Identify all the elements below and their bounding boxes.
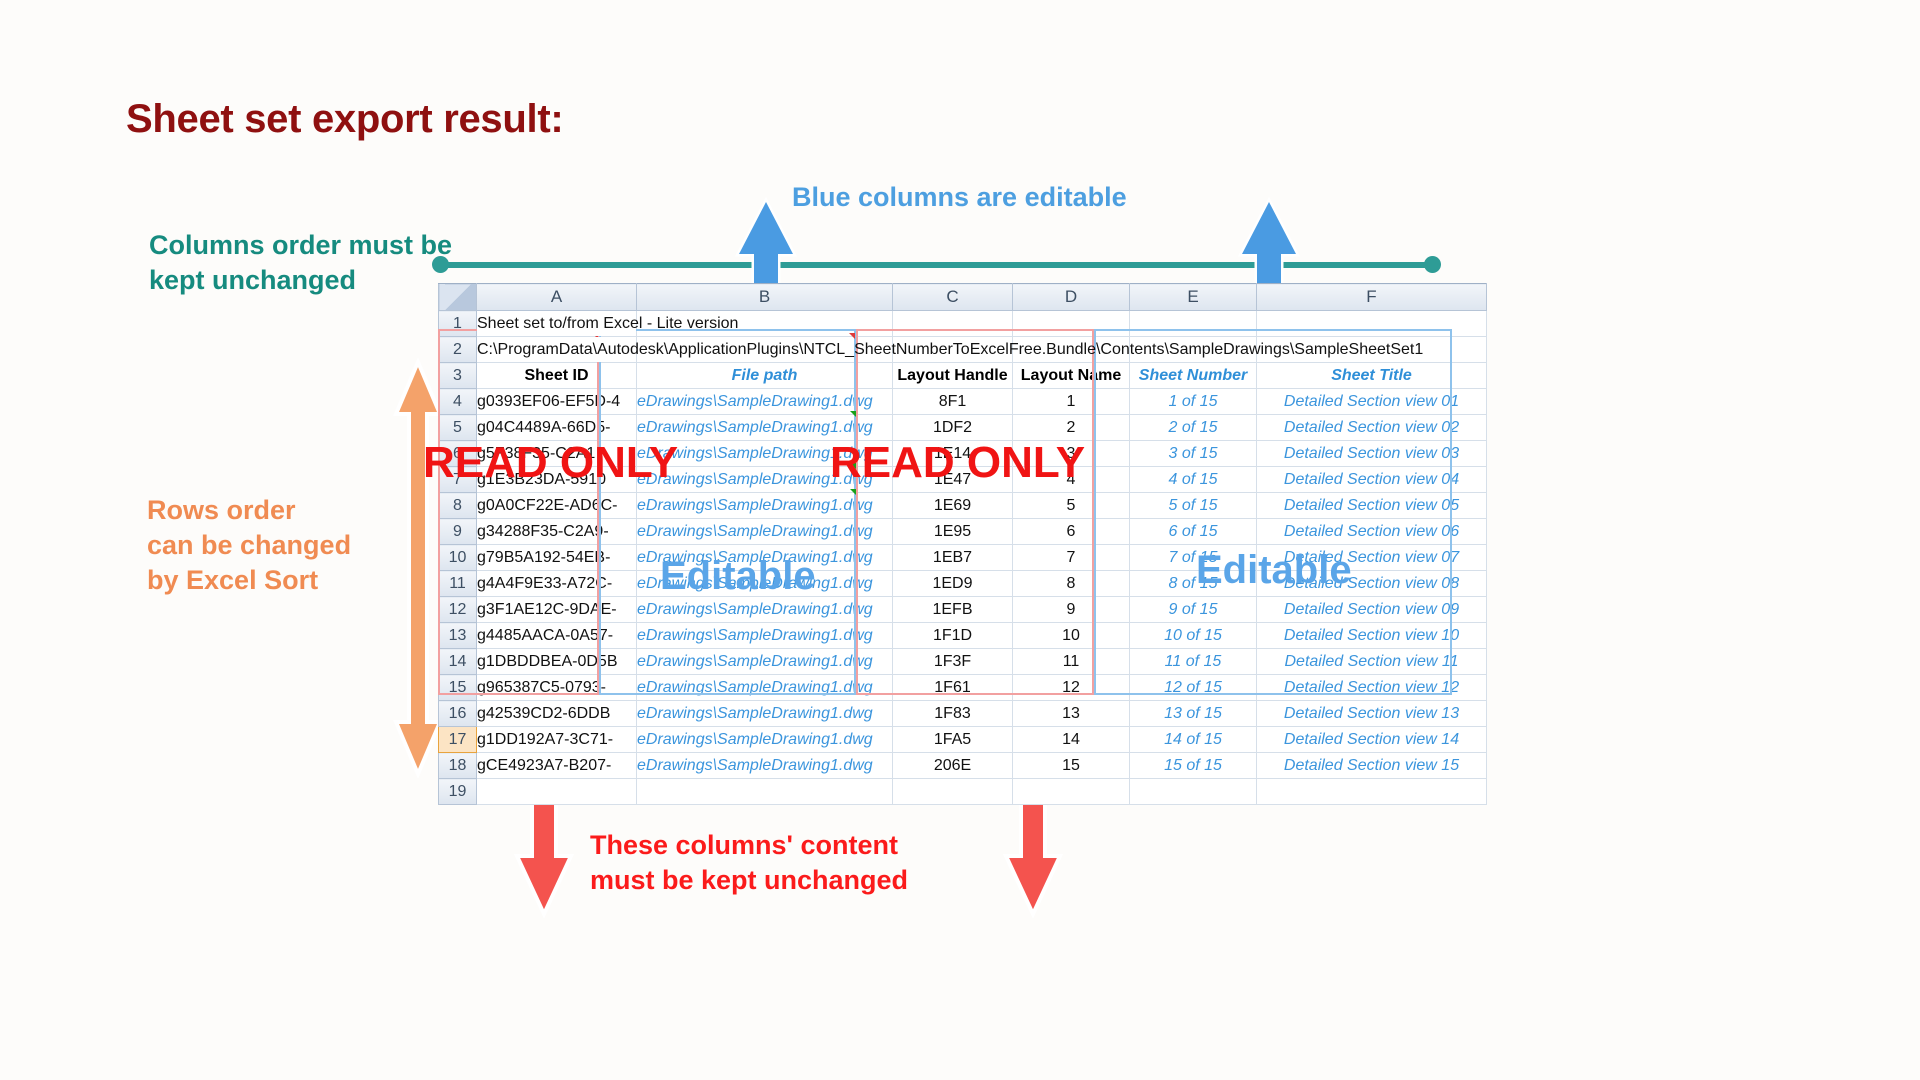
- cell-f19[interactable]: [1257, 779, 1487, 805]
- cell-file_path-8[interactable]: eDrawings\SampleDrawing1.dwg: [637, 493, 893, 519]
- cell-sheet_number-5[interactable]: 2 of 15: [1130, 415, 1257, 441]
- cell-layout_name-14[interactable]: 11: [1013, 649, 1130, 675]
- cell-sheet_id-4[interactable]: g0393EF06-EF5D-4: [477, 389, 637, 415]
- cell-sheet_number-4[interactable]: 1 of 15: [1130, 389, 1257, 415]
- row-header-18[interactable]: 18: [439, 753, 477, 779]
- header-file-path[interactable]: File path: [637, 363, 893, 389]
- column-order-indicator-dot-left: [432, 256, 449, 273]
- row-header-9[interactable]: 9: [439, 519, 477, 545]
- row-header-12[interactable]: 12: [439, 597, 477, 623]
- cell-sheet_number-15[interactable]: 12 of 15: [1130, 675, 1257, 701]
- row-header-15[interactable]: 15: [439, 675, 477, 701]
- cell-layout_name-15[interactable]: 12: [1013, 675, 1130, 701]
- cell-sheet_title-16[interactable]: Detailed Section view 13: [1257, 701, 1487, 727]
- cell-layout_handle-14[interactable]: 1F3F: [893, 649, 1013, 675]
- cell-sheet_title-8[interactable]: Detailed Section view 05: [1257, 493, 1487, 519]
- column-header-f[interactable]: F: [1257, 284, 1487, 311]
- row-header-5[interactable]: 5: [439, 415, 477, 441]
- cell-sheet_id-12[interactable]: g3F1AE12C-9DAE-: [477, 597, 637, 623]
- cell-layout_name-6[interactable]: 3: [1013, 441, 1130, 467]
- cell-layout_handle-8[interactable]: 1E69: [893, 493, 1013, 519]
- cell-sheet_id-11[interactable]: g4A4F9E33-A72C-: [477, 571, 637, 597]
- cell-layout_handle-15[interactable]: 1F61: [893, 675, 1013, 701]
- header-sheet-id[interactable]: Sheet ID: [477, 363, 637, 389]
- cell-file_path-10[interactable]: eDrawings\SampleDrawing1.dwg: [637, 545, 893, 571]
- header-layout-handle[interactable]: Layout Handle: [893, 363, 1013, 389]
- cell-a1[interactable]: Sheet set to/from Excel - Lite version: [477, 311, 637, 337]
- cell-layout_handle-9[interactable]: 1E95: [893, 519, 1013, 545]
- annotation-blue-columns-editable: Blue columns are editable: [792, 180, 1127, 215]
- table-row[interactable]: 7g1E3B23DA-5910eDrawings\SampleDrawing1.…: [439, 467, 1487, 493]
- cell-sheet_number-12[interactable]: 9 of 15: [1130, 597, 1257, 623]
- cell-file_path-16[interactable]: eDrawings\SampleDrawing1.dwg: [637, 701, 893, 727]
- table-header-row[interactable]: 3 Sheet ID File path Layout Handle Layou…: [439, 363, 1487, 389]
- cell-layout_handle-7[interactable]: 1E47: [893, 467, 1013, 493]
- comment-marker-green-icon: [850, 411, 856, 417]
- cell-sheet_id-5[interactable]: g04C4489A-66D5-: [477, 415, 637, 441]
- header-layout-name[interactable]: Layout Name: [1013, 363, 1130, 389]
- column-header-a[interactable]: A: [477, 284, 637, 311]
- table-row[interactable]: 2 C:\ProgramData\Autodesk\ApplicationPlu…: [439, 337, 1487, 363]
- cell-sheet_id-8[interactable]: g0A0CF22E-AD6C-: [477, 493, 637, 519]
- table-row[interactable]: 16g42539CD2-6DDBeDrawings\SampleDrawing1…: [439, 701, 1487, 727]
- table-row[interactable]: 18gCE4923A7-B207-eDrawings\SampleDrawing…: [439, 753, 1487, 779]
- cell-sheet_number-14[interactable]: 11 of 15: [1130, 649, 1257, 675]
- cell-sheet_number-17[interactable]: 14 of 15: [1130, 727, 1257, 753]
- table-row[interactable]: 5g04C4489A-66D5-eDrawings\SampleDrawing1…: [439, 415, 1487, 441]
- cell-sheet_title-15[interactable]: Detailed Section view 12: [1257, 675, 1487, 701]
- row-header-13[interactable]: 13: [439, 623, 477, 649]
- comment-marker-icon: [849, 333, 855, 339]
- table-row[interactable]: 19: [439, 779, 1487, 805]
- cell-layout_handle-5[interactable]: 1DF2: [893, 415, 1013, 441]
- cell-file_path-13[interactable]: eDrawings\SampleDrawing1.dwg: [637, 623, 893, 649]
- cell-sheet_number-9[interactable]: 6 of 15: [1130, 519, 1257, 545]
- cell-layout_handle-17[interactable]: 1FA5: [893, 727, 1013, 753]
- table-row[interactable]: 10g79B5A192-54EB-eDrawings\SampleDrawing…: [439, 545, 1487, 571]
- annotation-columns-content-unchanged: These columns' content must be kept unch…: [590, 828, 908, 898]
- table-row[interactable]: 17g1DD192A7-3C71-eDrawings\SampleDrawing…: [439, 727, 1487, 753]
- cell-layout_handle-18[interactable]: 206E: [893, 753, 1013, 779]
- cell-file_path-14[interactable]: eDrawings\SampleDrawing1.dwg: [637, 649, 893, 675]
- table-row[interactable]: 1 Sheet set to/from Excel - Lite version: [439, 311, 1487, 337]
- cell-sheet_id-17[interactable]: g1DD192A7-3C71-: [477, 727, 637, 753]
- cell-d19[interactable]: [1013, 779, 1130, 805]
- row-header-16[interactable]: 16: [439, 701, 477, 727]
- row-header-19[interactable]: 19: [439, 779, 477, 805]
- cell-sheet_title-12[interactable]: Detailed Section view 09: [1257, 597, 1487, 623]
- cell-sheet_title-6[interactable]: Detailed Section view 03: [1257, 441, 1487, 467]
- annotation-rows-order: Rows order can be changed by Excel Sort: [147, 493, 351, 598]
- cell-sheet_number-13[interactable]: 10 of 15: [1130, 623, 1257, 649]
- cell-sheet_title-5[interactable]: Detailed Section view 02: [1257, 415, 1487, 441]
- column-order-indicator-dot-right: [1424, 256, 1441, 273]
- cell-file_path-9[interactable]: eDrawings\SampleDrawing1.dwg: [637, 519, 893, 545]
- cell-sheet_title-18[interactable]: Detailed Section view 15: [1257, 753, 1487, 779]
- cell-sheet_title-10[interactable]: Detailed Section view 07: [1257, 545, 1487, 571]
- column-header-d[interactable]: D: [1013, 284, 1130, 311]
- cell-sheet_title-11[interactable]: Detailed Section view 08: [1257, 571, 1487, 597]
- cell-layout_name-18[interactable]: 15: [1013, 753, 1130, 779]
- cell-sheet_title-17[interactable]: Detailed Section view 14: [1257, 727, 1487, 753]
- cell-sheet_number-6[interactable]: 3 of 15: [1130, 441, 1257, 467]
- cell-sheet_id-16[interactable]: g42539CD2-6DDB: [477, 701, 637, 727]
- table-row[interactable]: 9g34288F35-C2A9-eDrawings\SampleDrawing1…: [439, 519, 1487, 545]
- cell-sheet_id-7[interactable]: g1E3B23DA-5910: [477, 467, 637, 493]
- row-header-11[interactable]: 11: [439, 571, 477, 597]
- cell-file_path-18[interactable]: eDrawings\SampleDrawing1.dwg: [637, 753, 893, 779]
- cell-sheet_id-9[interactable]: g34288F35-C2A9-: [477, 519, 637, 545]
- cell-layout_handle-10[interactable]: 1EB7: [893, 545, 1013, 571]
- cell-layout_name-7[interactable]: 4: [1013, 467, 1130, 493]
- cell-file_path-17[interactable]: eDrawings\SampleDrawing1.dwg: [637, 727, 893, 753]
- cell-sheet_number-8[interactable]: 5 of 15: [1130, 493, 1257, 519]
- table-row[interactable]: 11g4A4F9E33-A72C-eDrawings\SampleDrawing…: [439, 571, 1487, 597]
- column-header-c[interactable]: C: [893, 284, 1013, 311]
- row-header-8[interactable]: 8: [439, 493, 477, 519]
- cell-layout_name-11[interactable]: 8: [1013, 571, 1130, 597]
- cell-layout_name-8[interactable]: 5: [1013, 493, 1130, 519]
- row-header-14[interactable]: 14: [439, 649, 477, 675]
- cell-a2[interactable]: C:\ProgramData\Autodesk\ApplicationPlugi…: [477, 337, 637, 363]
- cell-file_path-5[interactable]: eDrawings\SampleDrawing1.dwg: [637, 415, 893, 441]
- cell-sheet_number-11[interactable]: 8 of 15: [1130, 571, 1257, 597]
- cell-sheet_title-4[interactable]: Detailed Section view 01: [1257, 389, 1487, 415]
- orange-double-arrow-rows: [392, 358, 444, 778]
- column-header-b[interactable]: B: [637, 284, 893, 311]
- select-all-corner[interactable]: [439, 284, 477, 311]
- table-row[interactable]: 8g0A0CF22E-AD6C-eDrawings\SampleDrawing1…: [439, 493, 1487, 519]
- table-row[interactable]: 15g965387C5-0793-eDrawings\SampleDrawing…: [439, 675, 1487, 701]
- cell-layout_name-17[interactable]: 14: [1013, 727, 1130, 753]
- comment-marker-green-icon: [850, 489, 856, 495]
- table-row[interactable]: 14g1DBDDBEA-0D5BeDrawings\SampleDrawing1…: [439, 649, 1487, 675]
- cell-layout_handle-12[interactable]: 1EFB: [893, 597, 1013, 623]
- row-header-17[interactable]: 17: [439, 727, 477, 753]
- cell-sheet_id-10[interactable]: g79B5A192-54EB-: [477, 545, 637, 571]
- cell-file_path-11[interactable]: eDrawings\SampleDrawing1.dwg: [637, 571, 893, 597]
- cell-sheet_number-10[interactable]: 7 of 15: [1130, 545, 1257, 571]
- table-row[interactable]: 6g5F38F35-C2A1eDrawings\SampleDrawing1.d…: [439, 441, 1487, 467]
- header-sheet-number[interactable]: Sheet Number: [1130, 363, 1257, 389]
- header-sheet-title[interactable]: Sheet Title: [1257, 363, 1487, 389]
- cell-sheet_id-18[interactable]: gCE4923A7-B207-: [477, 753, 637, 779]
- cell-layout_name-4[interactable]: 1: [1013, 389, 1130, 415]
- row-header-1[interactable]: 1: [439, 311, 477, 337]
- cell-layout_handle-13[interactable]: 1F1D: [893, 623, 1013, 649]
- cell-sheet_title-7[interactable]: Detailed Section view 04: [1257, 467, 1487, 493]
- row-header-3[interactable]: 3: [439, 363, 477, 389]
- table-row[interactable]: 12g3F1AE12C-9DAE-eDrawings\SampleDrawing…: [439, 597, 1487, 623]
- cell-layout_name-12[interactable]: 9: [1013, 597, 1130, 623]
- cell-layout_handle-11[interactable]: 1ED9: [893, 571, 1013, 597]
- spreadsheet-grid[interactable]: A B C D E F 1 Sheet set to/from Excel - …: [438, 283, 1487, 805]
- cell-file_path-12[interactable]: eDrawings\SampleDrawing1.dwg: [637, 597, 893, 623]
- cell-layout_name-10[interactable]: 7: [1013, 545, 1130, 571]
- cell-layout_name-9[interactable]: 6: [1013, 519, 1130, 545]
- excel-spreadsheet[interactable]: A B C D E F 1 Sheet set to/from Excel - …: [438, 283, 1486, 801]
- cell-d1[interactable]: [1013, 311, 1130, 337]
- cell-sheet_title-9[interactable]: Detailed Section view 06: [1257, 519, 1487, 545]
- cell-e19[interactable]: [1130, 779, 1257, 805]
- column-order-indicator-bar: [438, 262, 1440, 268]
- row-header-4[interactable]: 4: [439, 389, 477, 415]
- cell-sheet_id-15[interactable]: g965387C5-0793-: [477, 675, 637, 701]
- cell-sheet_id-13[interactable]: g4485AACA-0A57-: [477, 623, 637, 649]
- row-header-7[interactable]: 7: [439, 467, 477, 493]
- cell-e1[interactable]: [1130, 311, 1257, 337]
- cell-layout_name-13[interactable]: 10: [1013, 623, 1130, 649]
- cell-layout_handle-6[interactable]: 1E14: [893, 441, 1013, 467]
- cell-c19[interactable]: [893, 779, 1013, 805]
- cell-sheet_number-18[interactable]: 15 of 15: [1130, 753, 1257, 779]
- cell-layout_name-16[interactable]: 13: [1013, 701, 1130, 727]
- cell-a19[interactable]: [477, 779, 637, 805]
- cell-b19[interactable]: [637, 779, 893, 805]
- annotation-columns-order: Columns order must be kept unchanged: [149, 228, 452, 298]
- row-header-10[interactable]: 10: [439, 545, 477, 571]
- table-row[interactable]: 13g4485AACA-0A57-eDrawings\SampleDrawing…: [439, 623, 1487, 649]
- page-title: Sheet set export result:: [126, 97, 563, 142]
- comment-marker-green-icon: [850, 463, 856, 469]
- cell-layout_handle-4[interactable]: 8F1: [893, 389, 1013, 415]
- cell-f1[interactable]: [1257, 311, 1487, 337]
- cell-sheet_title-14[interactable]: Detailed Section view 11: [1257, 649, 1487, 675]
- cell-sheet_id-6[interactable]: g5F38F35-C2A1: [477, 441, 637, 467]
- column-header-e[interactable]: E: [1130, 284, 1257, 311]
- data-rows-body: 4g0393EF06-EF5D-4eDrawings\SampleDrawing…: [439, 389, 1487, 779]
- cell-c1[interactable]: [893, 311, 1013, 337]
- cell-layout_handle-16[interactable]: 1F83: [893, 701, 1013, 727]
- cell-sheet_title-13[interactable]: Detailed Section view 10: [1257, 623, 1487, 649]
- cell-layout_name-5[interactable]: 2: [1013, 415, 1130, 441]
- table-row[interactable]: 4g0393EF06-EF5D-4eDrawings\SampleDrawing…: [439, 389, 1487, 415]
- cell-sheet_id-14[interactable]: g1DBDDBEA-0D5B: [477, 649, 637, 675]
- row-header-6[interactable]: 6: [439, 441, 477, 467]
- cell-sheet_number-7[interactable]: 4 of 15: [1130, 467, 1257, 493]
- row-header-2[interactable]: 2: [439, 337, 477, 363]
- column-header-row: A B C D E F: [439, 284, 1487, 311]
- cell-sheet_number-16[interactable]: 13 of 15: [1130, 701, 1257, 727]
- cell-file_path-15[interactable]: eDrawings\SampleDrawing1.dwg: [637, 675, 893, 701]
- slide-canvas: Sheet set export result: Columns order m…: [0, 0, 1920, 1080]
